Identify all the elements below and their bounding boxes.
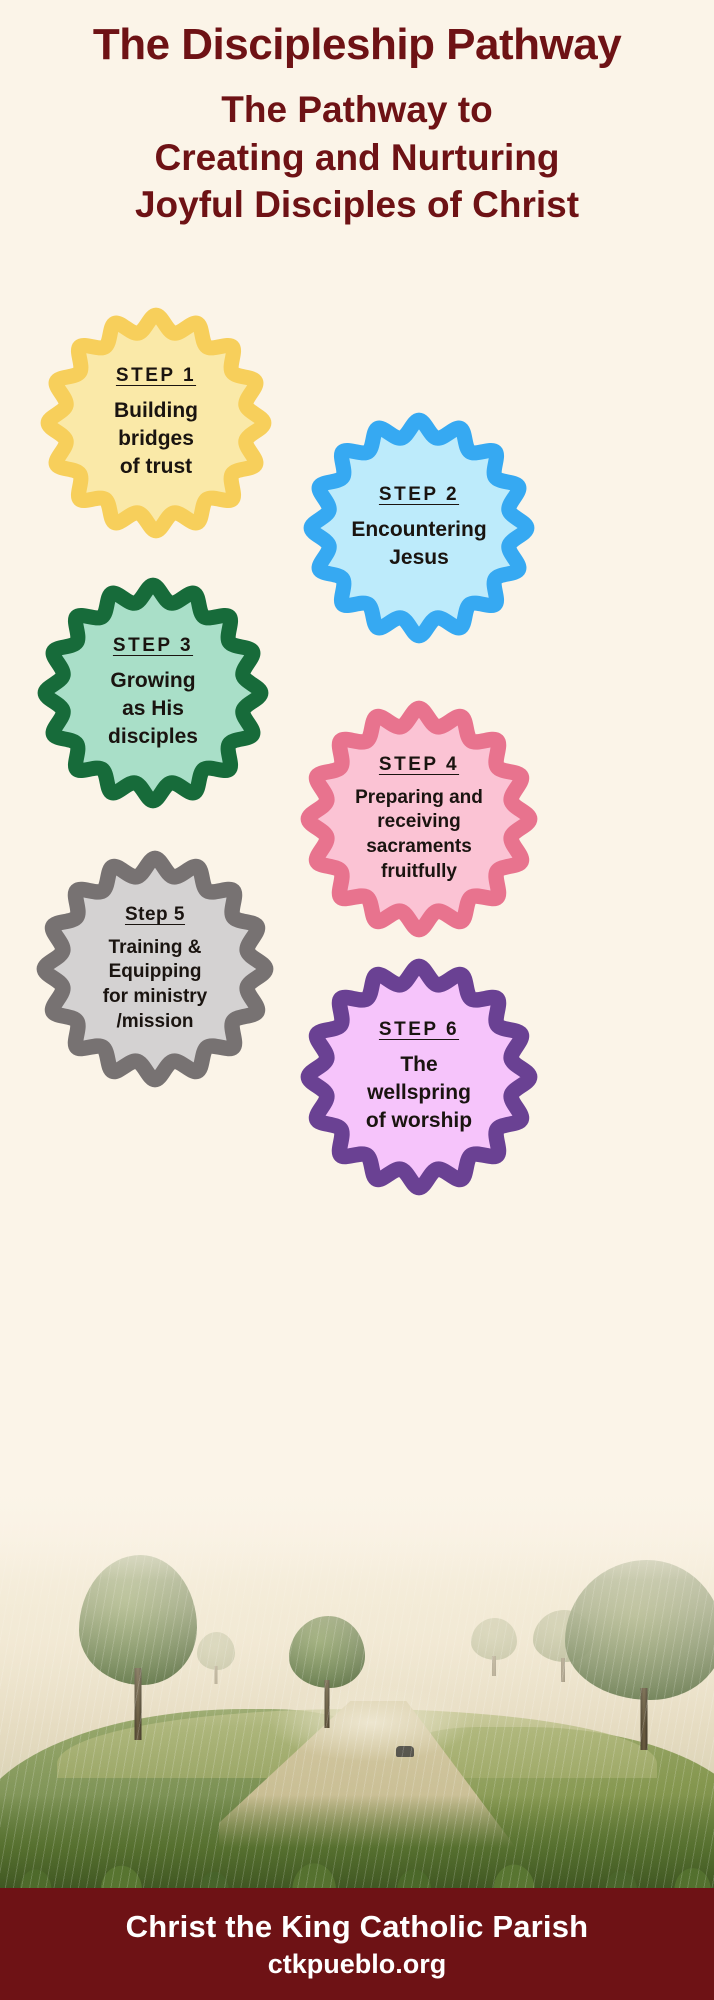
infographic-poster: The Discipleship Pathway The Pathway to …	[0, 0, 714, 2000]
step-text-line: /mission	[54, 1010, 256, 1035]
step-content-5: Step 5 Training & Equipping for ministry…	[36, 904, 274, 1035]
footer: Christ the King Catholic Parish ctkpuebl…	[0, 1888, 714, 2000]
step-text-6: The wellspring of worship	[318, 1051, 520, 1134]
step-text-line: Building	[58, 397, 254, 425]
header: The Discipleship Pathway The Pathway to …	[0, 0, 714, 228]
top-fade	[0, 1460, 714, 1580]
step-label-2: STEP 2	[379, 484, 459, 506]
step-content-1: STEP 1 Building bridges of trust	[40, 365, 272, 480]
step-badge-2[interactable]: STEP 2 Encountering Jesus	[303, 412, 535, 644]
step-text-line: receiving	[318, 810, 520, 835]
landscape-photo	[0, 1460, 714, 1890]
step-badge-4[interactable]: STEP 4 Preparing and receiving sacrament…	[300, 700, 538, 938]
step-label-5: Step 5	[125, 904, 185, 926]
step-text-line: Encountering	[321, 516, 517, 544]
step-text-1: Building bridges of trust	[58, 397, 254, 480]
step-text-line: for ministry	[54, 985, 256, 1010]
step-text-5: Training & Equipping for ministry /missi…	[54, 936, 256, 1035]
step-text-line: Preparing and	[318, 786, 520, 811]
step-badge-5[interactable]: Step 5 Training & Equipping for ministry…	[36, 850, 274, 1088]
website-url[interactable]: ctkpueblo.org	[268, 1949, 447, 1980]
step-label-6: STEP 6	[379, 1019, 459, 1041]
step-text-line: Equipping	[54, 960, 256, 985]
page-title: The Discipleship Pathway	[0, 22, 714, 68]
step-text-line: of trust	[58, 453, 254, 481]
step-text-line: wellspring	[318, 1079, 520, 1107]
step-text-line: Training &	[54, 936, 256, 961]
step-text-line: as His	[55, 695, 251, 723]
step-badge-6[interactable]: STEP 6 The wellspring of worship	[300, 958, 538, 1196]
step-label-4: STEP 4	[379, 754, 459, 776]
step-text-line: bridges	[58, 425, 254, 453]
subtitle-line-2: Creating and Nurturing	[0, 134, 714, 181]
step-text-line: disciples	[55, 723, 251, 751]
step-text-line: The	[318, 1051, 520, 1079]
step-badge-3[interactable]: STEP 3 Growing as His disciples	[37, 577, 269, 809]
step-text-line: Jesus	[321, 544, 517, 572]
step-text-line: Growing	[55, 667, 251, 695]
step-label-1: STEP 1	[116, 365, 196, 387]
step-label-3: STEP 3	[113, 635, 193, 657]
step-content-2: STEP 2 Encountering Jesus	[303, 484, 535, 571]
page-subtitle: The Pathway to Creating and Nurturing Jo…	[0, 86, 714, 228]
step-content-3: STEP 3 Growing as His disciples	[37, 635, 269, 750]
step-text-4: Preparing and receiving sacraments fruit…	[318, 786, 520, 885]
subtitle-line-1: The Pathway to	[0, 86, 714, 133]
step-badge-1[interactable]: STEP 1 Building bridges of trust	[40, 307, 272, 539]
step-text-line: sacraments	[318, 835, 520, 860]
step-content-4: STEP 4 Preparing and receiving sacrament…	[300, 754, 538, 885]
step-content-6: STEP 6 The wellspring of worship	[300, 1019, 538, 1134]
step-text-2: Encountering Jesus	[321, 516, 517, 571]
subtitle-line-3: Joyful Disciples of Christ	[0, 181, 714, 228]
step-text-line: fruitfully	[318, 860, 520, 885]
step-text-line: of worship	[318, 1107, 520, 1135]
step-text-3: Growing as His disciples	[55, 667, 251, 750]
parish-name: Christ the King Catholic Parish	[126, 1909, 589, 1945]
